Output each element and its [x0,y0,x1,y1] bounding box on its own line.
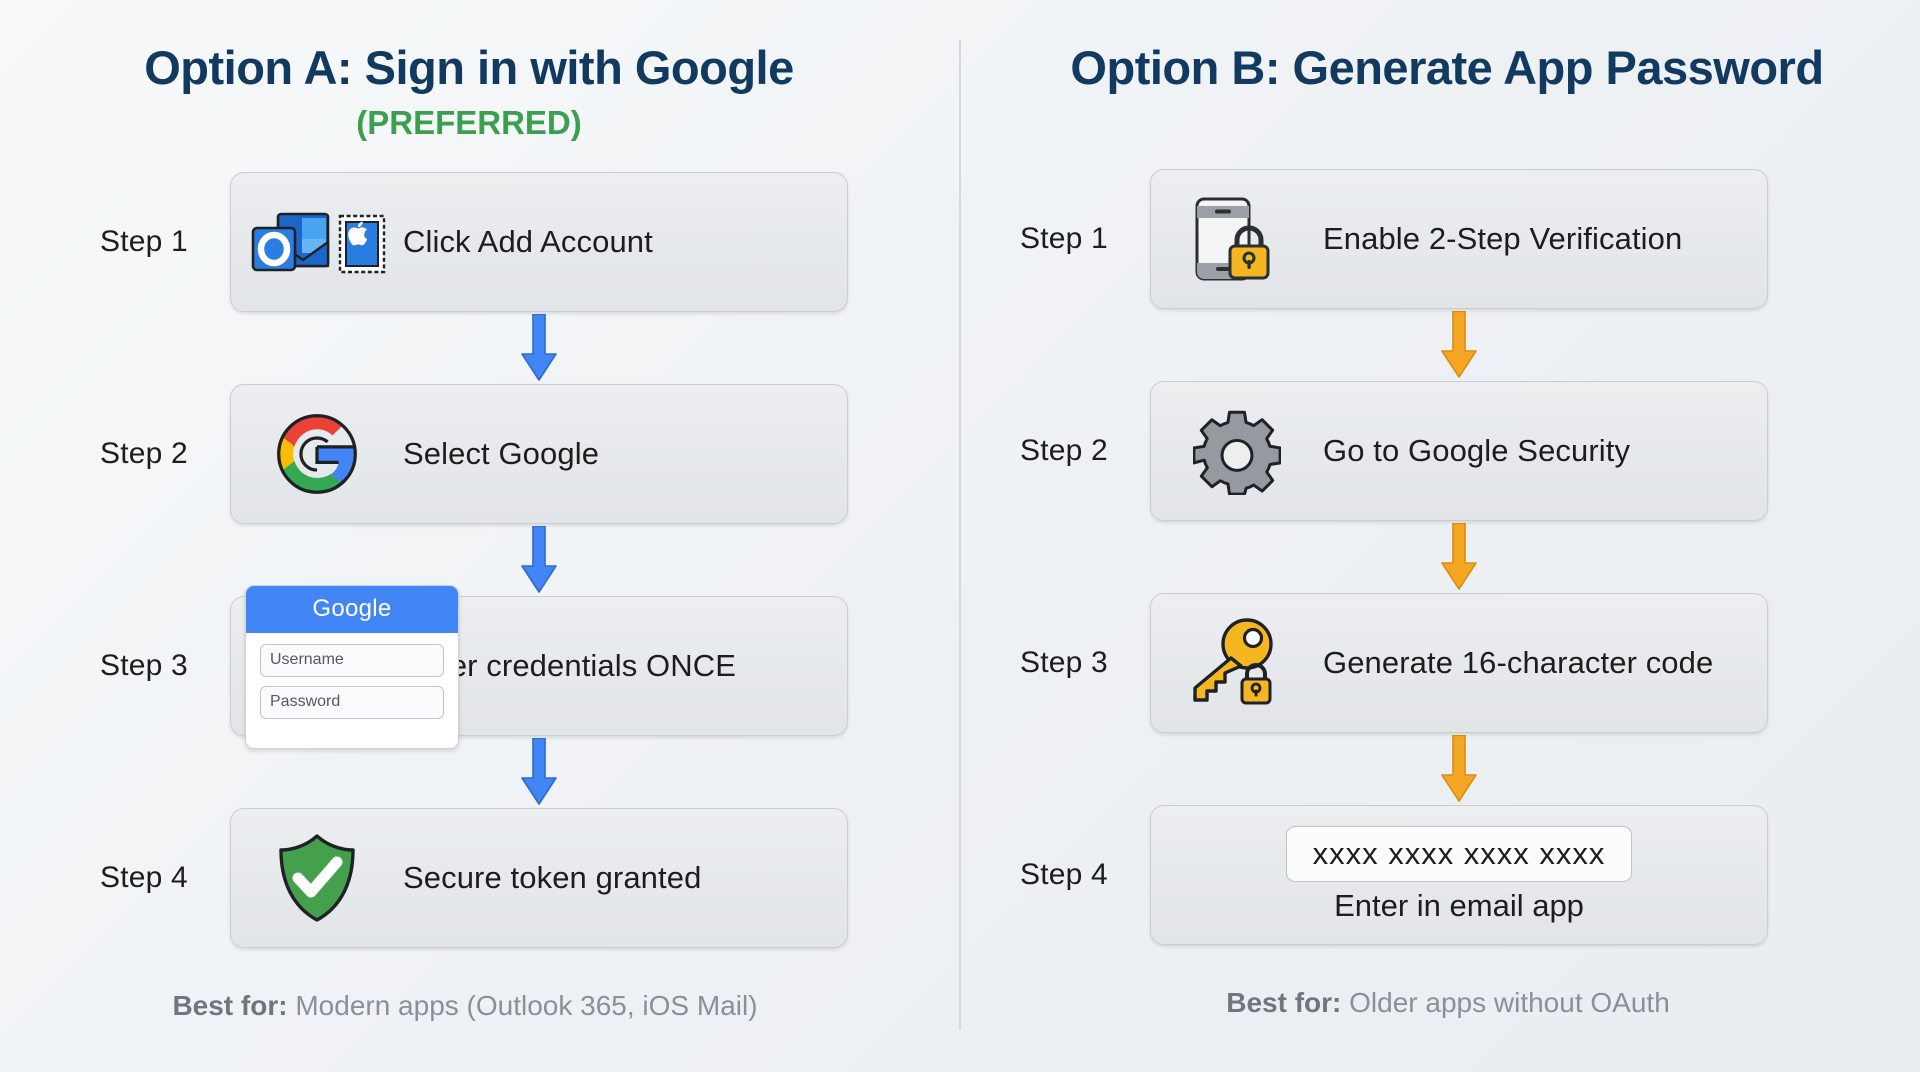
arrow-down-a3 [0,736,960,808]
step-box-secure-token[interactable]: Secure token granted [230,808,848,948]
option-a-footer: Best for: Modern apps (Outlook 365, iOS … [0,990,960,1022]
step-label: Step 4 [1020,858,1150,892]
google-card-body: Username Password [246,633,458,748]
phone-lock-icon [1151,169,1323,309]
arrow-down-icon [1436,523,1482,591]
arrow-down-a2 [0,524,960,596]
step-label: Step 3 [1020,646,1150,680]
footer-label: Best for: [172,990,287,1021]
step-row: Step 4 xxxx xxxx xxxx xxxx Enter in emai… [960,805,1920,945]
step-label: Step 3 [100,649,230,683]
google-signin-card: Google Username Password [231,596,403,736]
arrow-down-b1 [960,309,1920,381]
app-password-code-field[interactable]: xxxx xxxx xxxx xxxx [1286,826,1633,882]
step-row: Step 3 [960,593,1920,733]
option-a-title: Option A: Sign in with Google [0,40,960,95]
app-password-code: xxxx xxxx xxxx xxxx Enter in email app [1151,826,1767,924]
arrow-down-icon [516,738,562,806]
option-a-subtitle: (PREFERRED) [0,105,960,141]
step-row: Step 2 Select Google [0,384,960,524]
step-box-app-password[interactable]: xxxx xxxx xxxx xxxx Enter in email app [1150,805,1768,945]
google-login-card[interactable]: Google Username Password [245,585,459,749]
arrow-down-icon [516,314,562,382]
step-box-click-add-account[interactable]: Click Add Account [230,172,848,312]
step-box-generate-code[interactable]: Generate 16-character code [1150,593,1768,733]
app-password-caption: Enter in email app [1334,888,1584,924]
option-b-title: Option B: Generate App Password [974,40,1920,95]
option-b-column: Option B: Generate App Password Step 1 [960,0,1920,1072]
green-shield-check-icon [231,808,403,948]
step-box-enable-2step[interactable]: Enable 2-Step Verification [1150,169,1768,309]
step-box-google-security[interactable]: Go to Google Security [1150,381,1768,521]
arrow-down-icon [516,526,562,594]
arrow-down-icon [1436,735,1482,803]
step-label: Step 4 [100,861,230,895]
step-row: Step 4 Secure token granted [0,808,960,948]
key-lock-icon [1151,593,1323,733]
step-row: Step 2 Go to Google Security [960,381,1920,521]
step-label: Step 1 [100,225,230,259]
step-text: Secure token granted [403,860,701,896]
step-box-enter-credentials[interactable]: Google Username Password Enter credentia… [230,596,848,736]
step-row: Step 1 [0,172,960,312]
option-b-steps: Step 1 [960,169,1920,945]
step-text: Enable 2-Step Verification [1323,221,1682,257]
step-row: Step 3 Google Username Password Enter cr… [0,596,960,736]
step-box-select-google[interactable]: Select Google [230,384,848,524]
comparison-board: Option A: Sign in with Google (PREFERRED… [0,0,1920,1072]
footer-text: Older apps without OAuth [1349,987,1670,1018]
option-a-column: Option A: Sign in with Google (PREFERRED… [0,0,960,1072]
arrow-down-b3 [960,733,1920,805]
arrow-down-a1 [0,312,960,384]
password-field[interactable]: Password [260,686,444,719]
google-card-header: Google [246,586,458,633]
outlook-and-apple-mail-icon [231,172,403,312]
google-g-icon [231,384,403,524]
step-text: Generate 16-character code [1323,645,1713,681]
step-text: Go to Google Security [1323,433,1630,469]
step-label: Step 2 [1020,434,1150,468]
step-label: Step 1 [1020,222,1150,256]
option-b-footer: Best for: Older apps without OAuth [960,987,1920,1019]
step-row: Step 1 [960,169,1920,309]
option-a-steps: Step 1 [0,172,960,948]
column-divider [959,40,961,1030]
username-field[interactable]: Username [260,644,444,677]
footer-text: Modern apps (Outlook 365, iOS Mail) [295,990,757,1021]
arrow-down-b2 [960,521,1920,593]
gear-icon [1151,381,1323,521]
step-text: Click Add Account [403,224,653,260]
step-text: Select Google [403,436,599,472]
footer-label: Best for: [1226,987,1341,1018]
step-label: Step 2 [100,437,230,471]
arrow-down-icon [1436,311,1482,379]
